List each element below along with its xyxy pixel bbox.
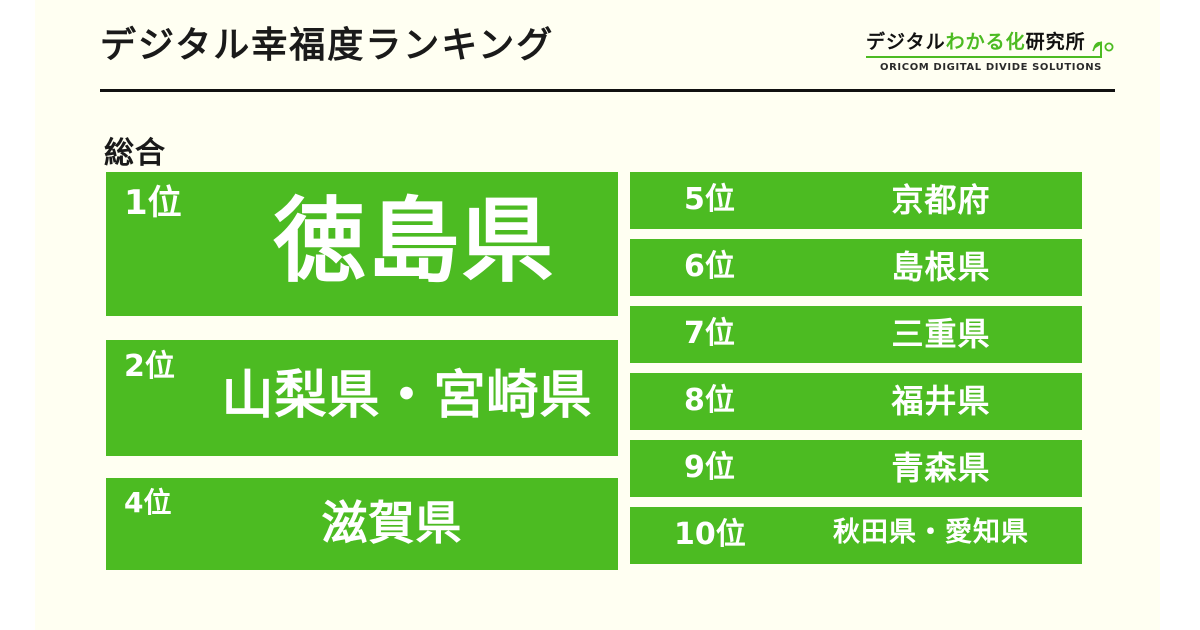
- logo-wordmark: デジタル わかる化 研究所: [866, 28, 1116, 54]
- slide-root: デジタル幸福度ランキング デジタル わかる化 研究所 ORICOM DIGITA…: [0, 0, 1200, 630]
- rank-label: 9位: [684, 453, 735, 483]
- prefecture-name: 京都府: [800, 184, 1082, 216]
- prefecture-name: 秋田県・愛知県: [780, 519, 1082, 546]
- prefecture-name: 三重県: [800, 318, 1082, 350]
- page-title: デジタル幸福度ランキング: [100, 24, 554, 67]
- rank-row-9[interactable]: 9位 青森県: [630, 440, 1082, 497]
- brand-logo[interactable]: デジタル わかる化 研究所 ORICOM DIGITAL DIVIDE SOLU…: [866, 28, 1116, 80]
- logo-text-dark-2: 研究所: [1026, 27, 1086, 54]
- rank-label: 7位: [684, 319, 735, 349]
- prefecture-name: 島根県: [800, 251, 1082, 283]
- ranking-list-column: 5位 京都府 6位 島根県 7位 三重県 8位 福井県 9位 青森県 10位 秋…: [630, 172, 1082, 568]
- rank-card-2[interactable]: 2位 山梨県・宮崎県: [106, 340, 618, 456]
- rank-label: 6位: [684, 252, 735, 282]
- rank-row-6[interactable]: 6位 島根県: [630, 239, 1082, 296]
- rank-row-7[interactable]: 7位 三重県: [630, 306, 1082, 363]
- prefecture-name: 滋賀県: [106, 500, 618, 546]
- prefecture-name: 青森県: [800, 452, 1082, 484]
- rank-label: 10位: [674, 520, 746, 550]
- logo-underline-cap: [1100, 42, 1102, 58]
- prefecture-name: 山梨県・宮崎県: [106, 370, 618, 422]
- rank-card-4[interactable]: 4位 滋賀県: [106, 478, 618, 570]
- rank-card-1[interactable]: 1位 徳島県: [106, 172, 618, 316]
- logo-underline: [866, 56, 1102, 58]
- logo-text-accent: わかる化: [946, 27, 1026, 54]
- header-divider: [100, 89, 1115, 92]
- rank-row-10[interactable]: 10位 秋田県・愛知県: [630, 507, 1082, 564]
- rank-label: 5位: [684, 185, 735, 215]
- rank-label: 8位: [684, 386, 735, 416]
- rank-row-5[interactable]: 5位 京都府: [630, 172, 1082, 229]
- rank-row-8[interactable]: 8位 福井県: [630, 373, 1082, 430]
- prefecture-name: 徳島県: [106, 196, 618, 288]
- logo-text-dark-1: デジタル: [866, 27, 946, 54]
- logo-subtitle: ORICOM DIGITAL DIVIDE SOLUTIONS: [876, 62, 1106, 73]
- featured-ranking-column: 1位 徳島県 2位 山梨県・宮崎県 4位 滋賀県: [106, 172, 618, 568]
- prefecture-name: 福井県: [800, 385, 1082, 417]
- section-label: 総合: [104, 128, 166, 172]
